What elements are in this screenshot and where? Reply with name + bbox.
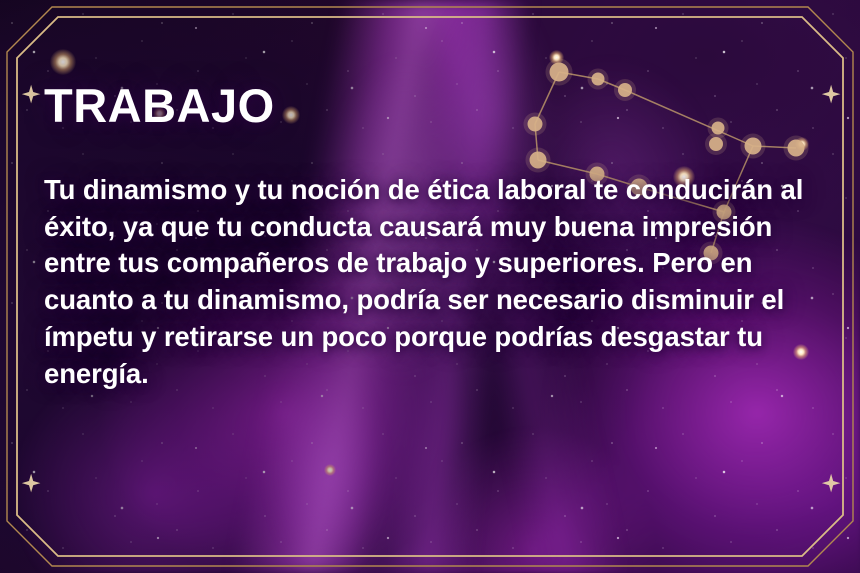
bright-star [50,49,76,75]
horoscope-card: TRABAJO Tu dinamismo y tu noción de étic… [0,0,860,573]
bright-star [324,464,336,476]
horoscope-body-text: Tu dinamismo y tu noción de ética labora… [44,172,814,392]
constellation-line [559,72,598,79]
sparkle-icon-bottom-left [22,474,41,493]
bright-star [549,50,564,65]
constellation-node [550,63,569,82]
page-title: TRABAJO [44,82,790,129]
constellation-node [788,140,805,157]
sparkle-icon-top-left [22,85,41,104]
card-content: TRABAJO Tu dinamismo y tu noción de étic… [44,82,790,392]
sparkle-icon-bottom-right [822,474,841,493]
sparkle-icon-top-right [822,85,841,104]
bright-star [795,137,809,151]
